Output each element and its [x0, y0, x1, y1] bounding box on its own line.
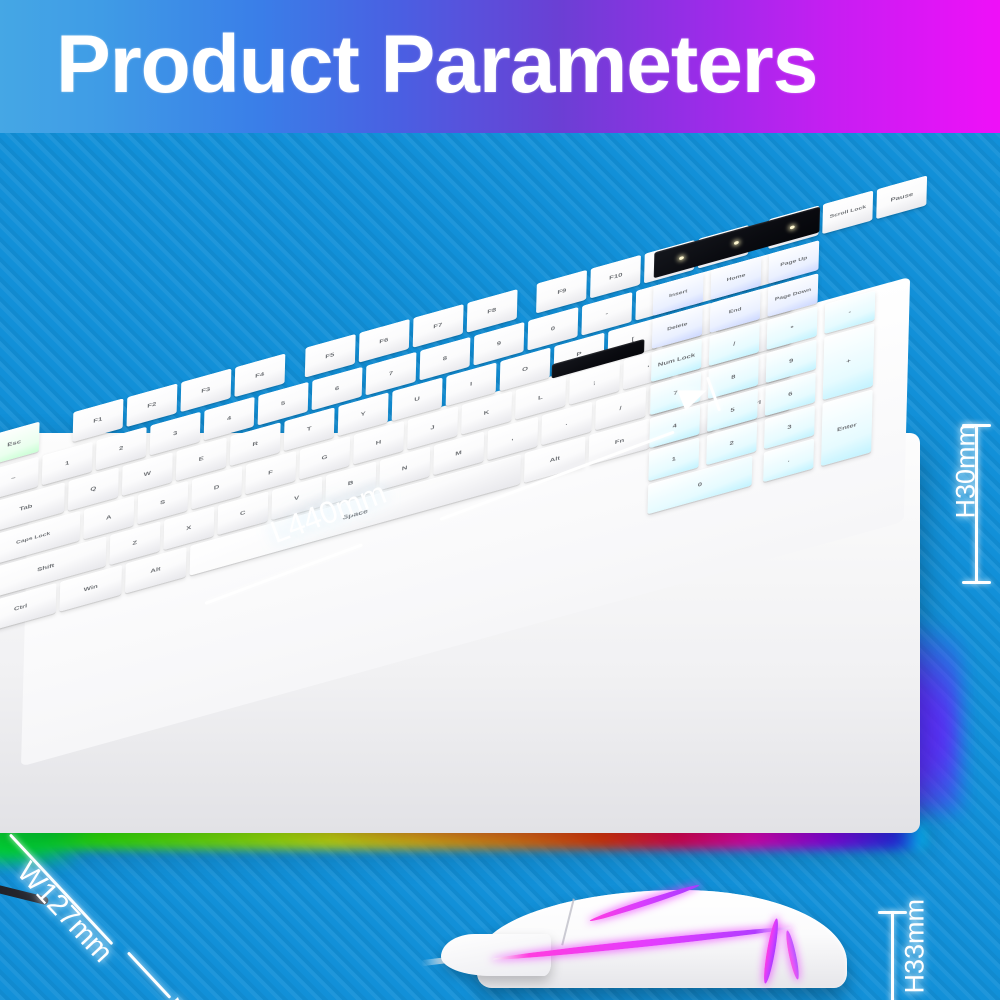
key-scroll-lock[interactable]: Scroll Lock: [822, 190, 873, 234]
keyboard-product-image: EscF1F2F3F4F5F6F7F8F9F10F11F12Prt ScrScr…: [0, 283, 970, 843]
mouse-height-label: H33mm: [900, 899, 931, 994]
product-stage: EscF1F2F3F4F5F6F7F8F9F10F11F12Prt ScrScr…: [0, 133, 1000, 1000]
page-title: Product Parameters: [56, 18, 817, 112]
header-banner: Product Parameters: [0, 0, 1000, 133]
keyboard-height-label: H30mm: [951, 424, 982, 519]
led-num-lock: [679, 255, 684, 260]
led-scroll-lock: [790, 225, 795, 230]
mouse-product-image: [437, 878, 857, 1000]
numpad-key--[interactable]: +: [823, 323, 875, 400]
key-f9[interactable]: F9: [536, 270, 587, 314]
key-pause[interactable]: Pause: [876, 175, 927, 219]
numpad-key-enter[interactable]: Enter: [821, 389, 873, 466]
key-f10[interactable]: F10: [590, 255, 641, 299]
keyboard-width-line-tail: [127, 951, 171, 998]
keyboard-width-label: W127mm: [10, 856, 119, 969]
keyboard-height-cap-bottom: [962, 581, 991, 584]
led-caps-lock: [734, 240, 739, 245]
product-parameters-infographic: Product Parameters EscF1F2F3F4F5F6F7F8F9…: [0, 0, 1000, 1000]
mouse-height-line: [891, 912, 894, 1000]
